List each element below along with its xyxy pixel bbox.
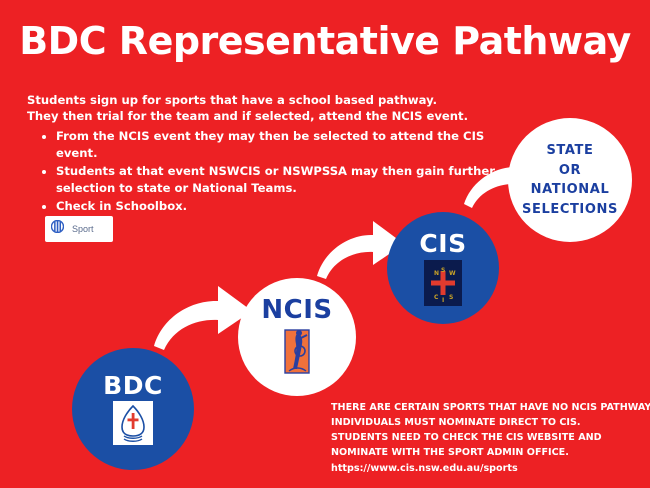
sport-app-icon bbox=[51, 220, 64, 238]
node-bdc[interactable]: BDC bbox=[72, 348, 194, 470]
bdc-mitre-crest bbox=[113, 401, 153, 445]
list-item: Students at that event NSWCIS or NSWPSSA… bbox=[56, 163, 506, 197]
node-state-title: STATE OR NATIONAL SELECTIONS bbox=[522, 141, 618, 219]
ncis-athlete-emblem bbox=[281, 325, 313, 377]
svg-text:N: N bbox=[434, 270, 439, 277]
svg-text:I: I bbox=[442, 297, 444, 304]
sport-app-button[interactable]: Sport bbox=[45, 216, 113, 242]
node-state-line-4: SELECTIONS bbox=[522, 200, 618, 220]
pathway-poster: BDC Representative Pathway Students sign… bbox=[0, 0, 650, 488]
footer-note-line-2: INDIVIDUALS MUST NOMINATE DIRECT TO CIS. bbox=[331, 415, 643, 430]
node-bdc-title: BDC bbox=[103, 373, 163, 398]
svg-text:S: S bbox=[441, 267, 445, 274]
node-ncis-title: NCIS bbox=[261, 297, 332, 323]
svg-text:W: W bbox=[449, 270, 456, 277]
sport-app-label: Sport bbox=[72, 224, 94, 234]
cis-sports-url[interactable]: https://www.cis.nsw.edu.au/sports bbox=[331, 461, 643, 476]
footer-note-line-4: NOMINATE WITH THE SPORT ADMIN OFFICE. bbox=[331, 445, 643, 460]
node-state-line-2: OR bbox=[522, 161, 618, 181]
node-state-or-national-selections[interactable]: STATE OR NATIONAL SELECTIONS bbox=[508, 118, 632, 242]
node-ncis[interactable]: NCIS bbox=[238, 278, 356, 396]
pathway-bullet-list: From the NCIS event they may then be sel… bbox=[38, 128, 506, 216]
svg-text:C: C bbox=[434, 294, 439, 301]
cis-nsw-cross-emblem: N S W C I S bbox=[424, 260, 462, 306]
node-state-line-3: NATIONAL bbox=[522, 180, 618, 200]
node-cis-title: CIS bbox=[419, 231, 466, 256]
footer-note-line-3: STUDENTS NEED TO CHECK THE CIS WEBSITE A… bbox=[331, 430, 643, 445]
page-title: BDC Representative Pathway bbox=[0, 22, 650, 62]
node-state-line-1: STATE bbox=[522, 141, 618, 161]
footer-note: THERE ARE CERTAIN SPORTS THAT HAVE NO NC… bbox=[331, 400, 643, 476]
footer-note-line-1: THERE ARE CERTAIN SPORTS THAT HAVE NO NC… bbox=[331, 400, 643, 415]
intro-paragraph: Students sign up for sports that have a … bbox=[27, 92, 497, 125]
intro-line-2: They then trial for the team and if sele… bbox=[27, 108, 497, 124]
intro-line-1: Students sign up for sports that have a … bbox=[27, 92, 497, 108]
list-item: From the NCIS event they may then be sel… bbox=[56, 128, 506, 162]
node-cis[interactable]: CIS N S W C I S bbox=[387, 212, 499, 324]
svg-text:S: S bbox=[449, 294, 453, 301]
